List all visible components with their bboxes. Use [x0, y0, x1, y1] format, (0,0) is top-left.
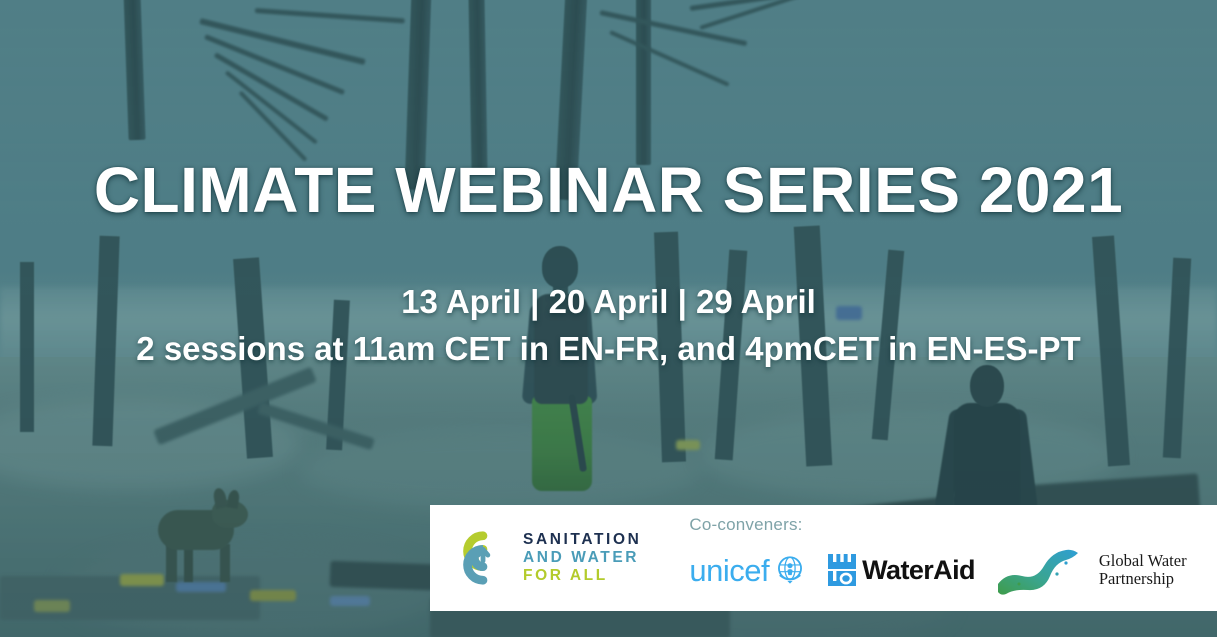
- unicef-logo: unicef: [689, 553, 807, 587]
- swa-line-for-all: FOR ALL: [523, 567, 641, 585]
- unicef-wordmark: unicef: [689, 555, 769, 586]
- gwp-wordmark: Global Water Partnership: [1099, 552, 1187, 589]
- swa-interlocking-rings-icon: [454, 529, 512, 587]
- co-conveners-label: Co-conveners:: [689, 515, 1186, 535]
- swa-line-and-water: AND WATER: [523, 549, 641, 567]
- logo-bar: SANITATION AND WATER FOR ALL Co-convener…: [430, 505, 1217, 611]
- gwp-wave-brushstroke-icon: [995, 544, 1091, 596]
- wateraid-wordmark: WaterAid: [862, 557, 975, 584]
- climate-webinar-banner: CLIMATE WEBINAR SERIES 2021 13 April | 2…: [0, 0, 1217, 637]
- page-title: CLIMATE WEBINAR SERIES 2021: [0, 158, 1217, 222]
- webinar-sessions-info: 2 sessions at 11am CET in EN-FR, and 4pm…: [0, 330, 1217, 368]
- gwp-line-1: Global Water: [1099, 552, 1187, 570]
- co-conveners-logos: unicef: [689, 544, 1186, 596]
- swa-wordmark: SANITATION AND WATER FOR ALL: [523, 531, 641, 585]
- webinar-dates: 13 April | 20 April | 29 April: [0, 283, 1217, 321]
- gwp-logo: Global Water Partnership: [995, 544, 1187, 596]
- swa-line-sanitation: SANITATION: [523, 531, 641, 549]
- wateraid-logo: WaterAid: [827, 553, 975, 587]
- gwp-line-2: Partnership: [1099, 570, 1187, 588]
- co-conveners-section: Co-conveners: unicef: [689, 515, 1186, 601]
- unicef-globe-emblem-icon: [773, 553, 807, 587]
- wateraid-square-icon: [827, 553, 857, 587]
- swa-logo: SANITATION AND WATER FOR ALL: [454, 529, 641, 587]
